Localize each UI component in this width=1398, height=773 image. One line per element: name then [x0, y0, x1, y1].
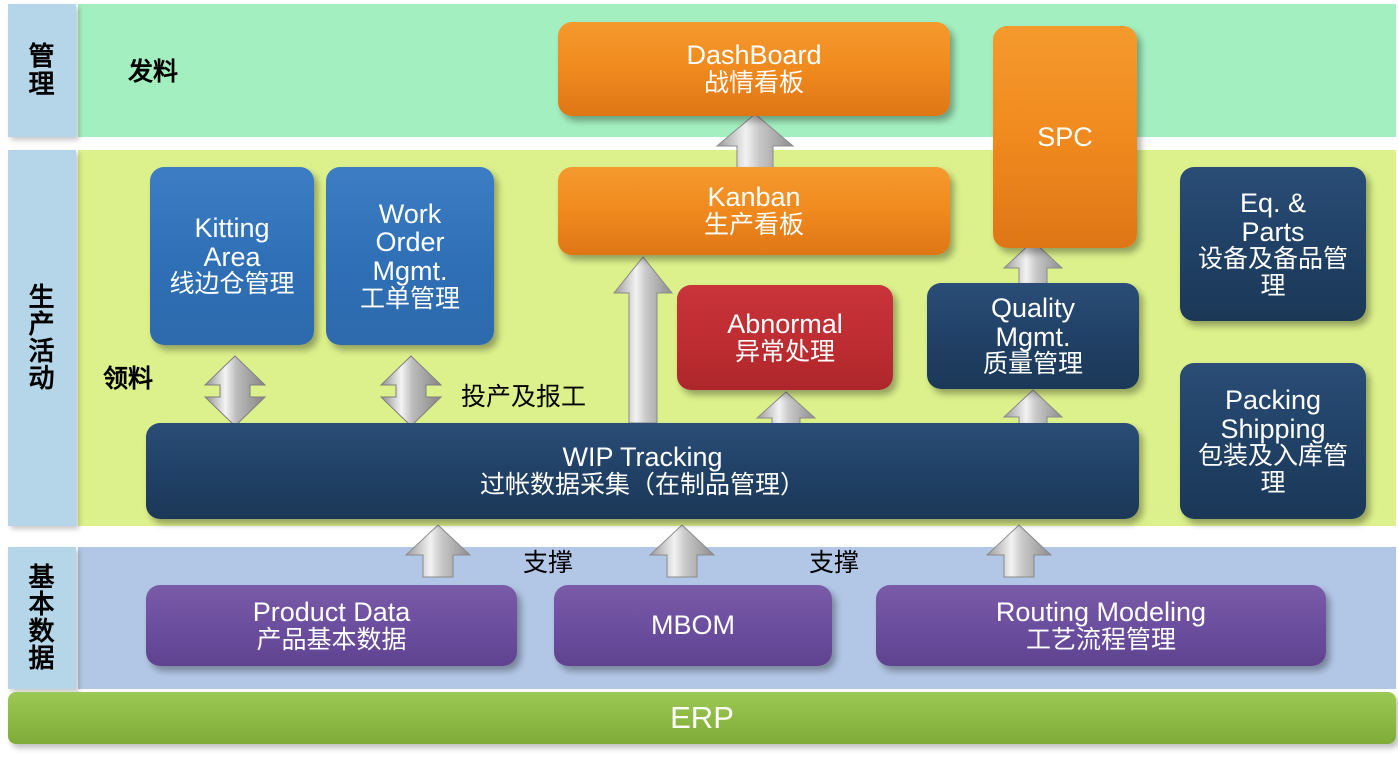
box-workorder-cn: 工单管理 [332, 286, 488, 313]
arrow-mbom-to-wip [648, 523, 716, 579]
erp-label: ERP [670, 700, 734, 736]
box-equipment-en-1: Eq. & [1186, 189, 1360, 218]
category-label-char: 据 [28, 645, 55, 672]
category-label-char: 动 [28, 365, 55, 392]
box-workorder-en-1: Work [332, 200, 488, 229]
arrow-kitting-wip-bidirectional [203, 355, 267, 427]
box-kanban-cn: 生产看板 [564, 212, 944, 239]
box-productdata-cn: 产品基本数据 [152, 627, 511, 654]
category-label-char: 管 [28, 43, 55, 70]
box-packing-cn: 包装及入库管理 [1186, 443, 1360, 496]
box-spc-en: SPC [999, 123, 1131, 152]
box-kanban[interactable]: Kanban 生产看板 [558, 167, 950, 255]
box-work-order-mgmt[interactable]: Work Order Mgmt. 工单管理 [326, 167, 494, 345]
label-issue-material: 发料 [128, 52, 178, 88]
arrow-workorder-wip-bidirectional [379, 355, 443, 427]
box-kitting-en-1: Kitting [156, 214, 308, 243]
arrow-routing-to-wip [985, 523, 1053, 579]
box-routing-en: Routing Modeling [882, 598, 1320, 627]
category-label-char: 活 [28, 338, 55, 365]
box-abnormal-cn: 异常处理 [683, 339, 887, 366]
box-routing-modeling[interactable]: Routing Modeling 工艺流程管理 [876, 585, 1326, 666]
box-product-data[interactable]: Product Data 产品基本数据 [146, 585, 517, 666]
box-kitting-en-2: Area [156, 243, 308, 272]
box-packing-shipping[interactable]: Packing Shipping 包装及入库管理 [1180, 363, 1366, 519]
box-wip-cn: 过帐数据采集（在制品管理） [152, 472, 1133, 499]
box-dashboard[interactable]: DashBoard 战情看板 [558, 22, 950, 116]
category-tab-basic-data: 基 本 数 据 [8, 547, 76, 689]
box-quality-mgmt[interactable]: Quality Mgmt. 质量管理 [927, 283, 1139, 389]
category-label-char: 本 [28, 591, 55, 618]
erp-bar[interactable]: ERP [8, 692, 1396, 744]
box-routing-cn: 工艺流程管理 [882, 627, 1320, 654]
box-productdata-en: Product Data [152, 598, 511, 627]
category-label-char: 产 [28, 311, 55, 338]
box-abnormal-en: Abnormal [683, 310, 887, 339]
diagram-canvas: 管 理 生 产 活 动 基 本 数 据 发料 领料 投产及报工 支撑 支撑 [0, 0, 1398, 773]
arrow-wip-to-kanban [612, 255, 674, 425]
box-kitting-area[interactable]: Kitting Area 线边仓管理 [150, 167, 314, 345]
box-equipment-cn: 设备及备品管理 [1186, 246, 1360, 299]
label-support-right: 支撑 [809, 543, 859, 579]
box-mbom-en: MBOM [560, 611, 826, 640]
box-quality-cn: 质量管理 [933, 351, 1133, 378]
category-label-char: 基 [28, 564, 55, 591]
arrow-productdata-to-wip [404, 523, 472, 579]
category-tab-management: 管 理 [8, 4, 76, 137]
box-mbom[interactable]: MBOM [554, 585, 832, 666]
label-support-left: 支撑 [523, 543, 573, 579]
box-workorder-en-3: Mgmt. [332, 257, 488, 286]
box-kanban-en: Kanban [564, 183, 944, 212]
category-tab-production: 生 产 活 动 [8, 150, 76, 526]
box-workorder-en-2: Order [332, 228, 488, 257]
label-pick-material: 领料 [103, 359, 153, 395]
box-dashboard-en: DashBoard [564, 41, 944, 70]
category-label-char: 数 [28, 618, 55, 645]
category-label-char: 理 [28, 71, 55, 98]
label-production-report: 投产及报工 [461, 377, 586, 413]
box-packing-en-2: Shipping [1186, 415, 1360, 444]
box-abnormal[interactable]: Abnormal 异常处理 [677, 285, 893, 390]
box-wip-en: WIP Tracking [152, 443, 1133, 472]
box-packing-en-1: Packing [1186, 386, 1360, 415]
box-wip-tracking[interactable]: WIP Tracking 过帐数据采集（在制品管理） [146, 423, 1139, 519]
box-spc[interactable]: SPC [993, 26, 1137, 248]
box-equipment-parts[interactable]: Eq. & Parts 设备及备品管理 [1180, 167, 1366, 321]
box-kitting-cn: 线边仓管理 [156, 271, 308, 298]
box-quality-en-2: Mgmt. [933, 323, 1133, 352]
box-quality-en-1: Quality [933, 294, 1133, 323]
category-label-char: 生 [28, 284, 55, 311]
arrow-kanban-to-dashboard [715, 112, 795, 170]
box-dashboard-cn: 战情看板 [564, 70, 944, 97]
box-equipment-en-2: Parts [1186, 218, 1360, 247]
